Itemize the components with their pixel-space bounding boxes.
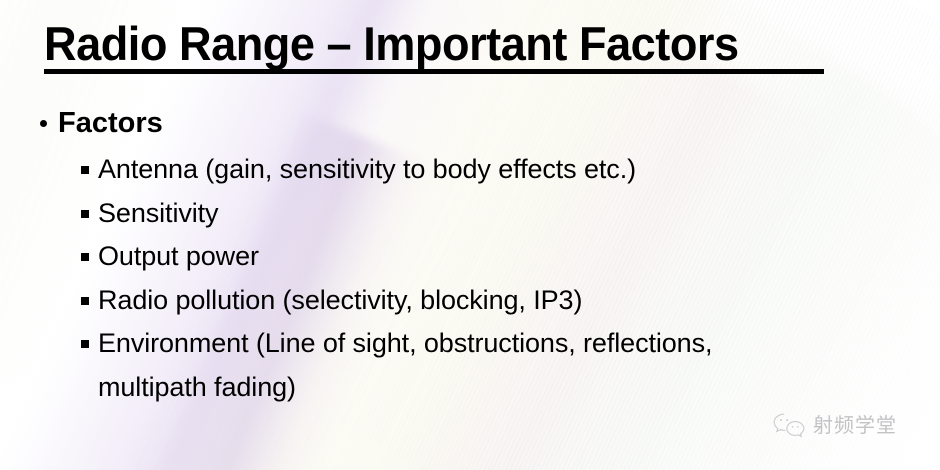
list-item: Antenna (gain, sensitivity to body effec… bbox=[0, 148, 940, 192]
list-item: Output power bbox=[0, 235, 940, 279]
bullet-level1-label: Factors bbox=[58, 107, 163, 139]
bullet-level2-list: Antenna (gain, sensitivity to body effec… bbox=[0, 148, 940, 409]
list-item-label: Radio pollution (selectivity, blocking, … bbox=[98, 285, 582, 315]
watermark-label: 射频学堂 bbox=[813, 414, 897, 436]
wechat-icon bbox=[772, 412, 806, 438]
bullet-level1-factors: Factors bbox=[0, 104, 940, 142]
square-bullet-icon bbox=[81, 210, 89, 218]
list-item: Sensitivity bbox=[0, 192, 940, 236]
list-item: Radio pollution (selectivity, blocking, … bbox=[0, 279, 940, 323]
list-item-label: Environment (Line of sight, obstructions… bbox=[98, 328, 712, 358]
square-bullet-icon bbox=[81, 253, 89, 261]
slide-canvas: Radio Range – Important Factors Factors … bbox=[0, 0, 940, 470]
square-bullet-icon bbox=[81, 340, 89, 348]
slide-body: Factors Antenna (gain, sensitivity to bo… bbox=[0, 104, 940, 409]
slide-title: Radio Range – Important Factors bbox=[44, 18, 739, 70]
square-bullet-icon bbox=[81, 166, 89, 174]
list-item: Environment (Line of sight, obstructions… bbox=[0, 322, 940, 409]
list-item-label: Output power bbox=[98, 241, 259, 271]
list-item-label-wrapped: multipath fading) bbox=[98, 366, 940, 410]
title-underline-rule bbox=[44, 69, 824, 74]
list-item-label: Sensitivity bbox=[98, 198, 218, 228]
square-bullet-icon bbox=[81, 297, 89, 305]
list-item-label: Antenna (gain, sensitivity to body effec… bbox=[98, 154, 636, 184]
watermark: 射频学堂 bbox=[772, 412, 897, 438]
round-bullet-icon bbox=[40, 120, 47, 127]
